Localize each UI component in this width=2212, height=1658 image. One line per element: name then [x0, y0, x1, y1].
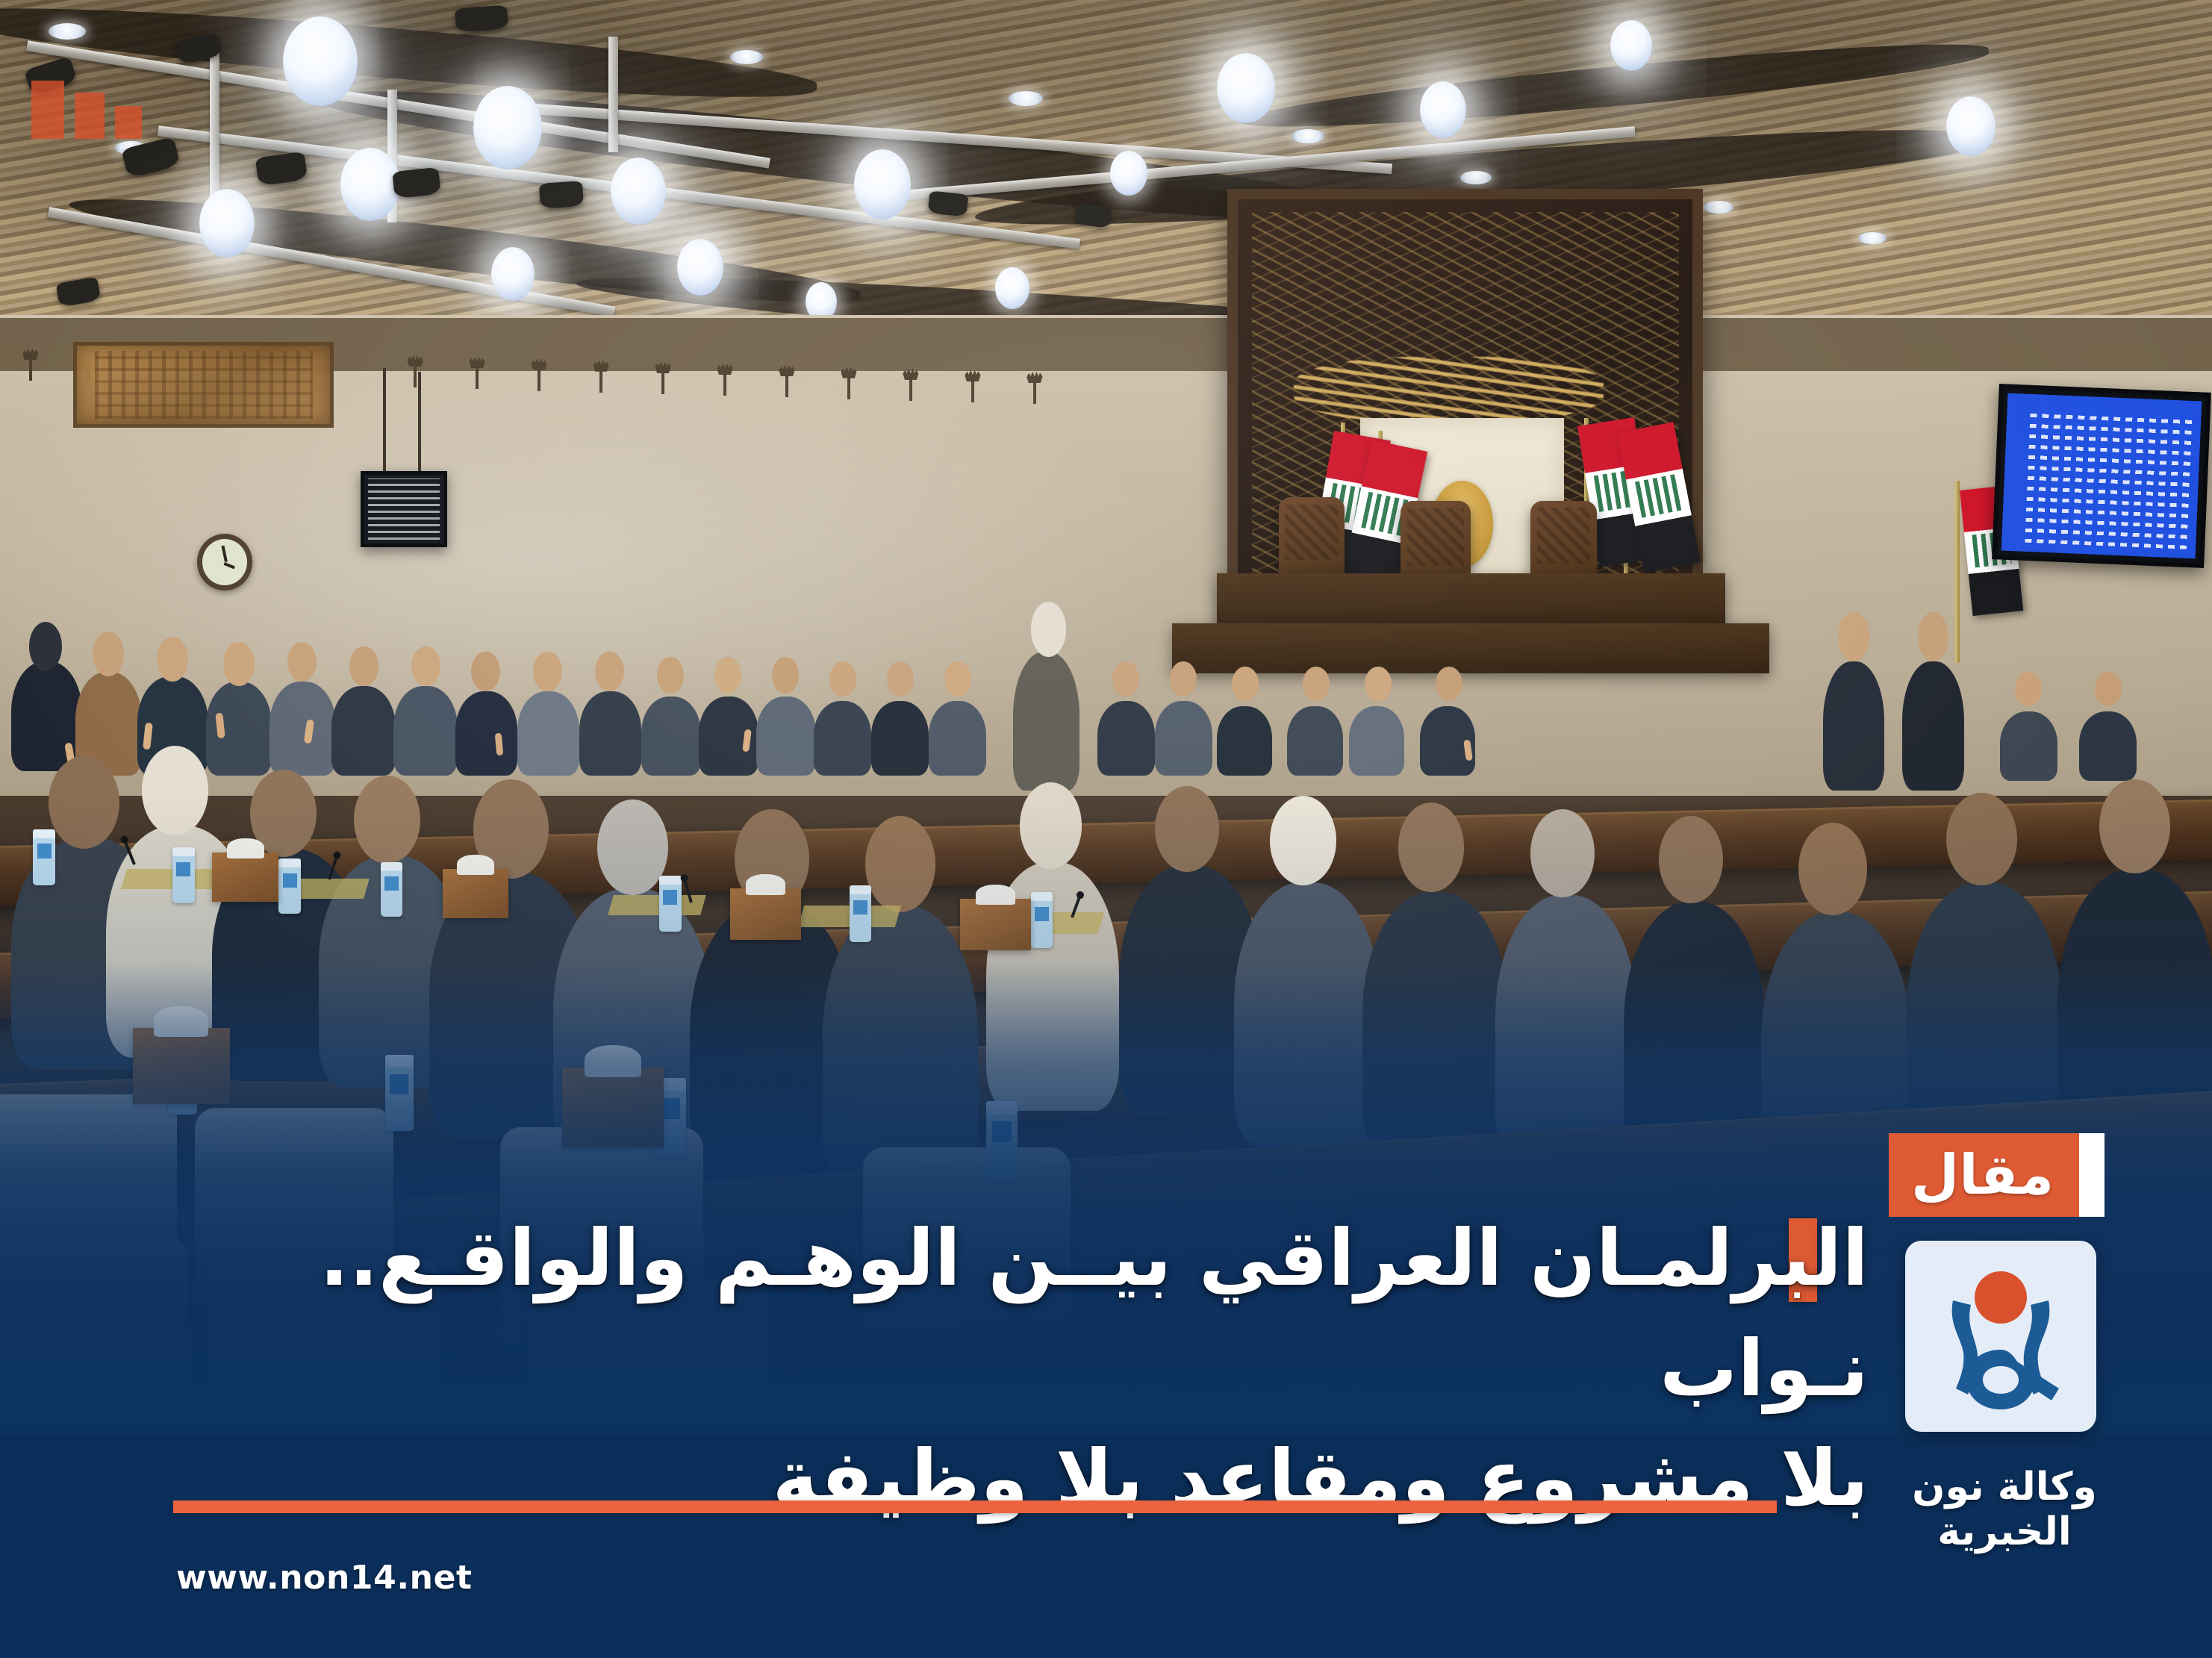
agency-name: وكالة نون الخبرية	[1844, 1465, 2165, 1554]
news-card: البرلمـان العراقي بيــن الوهـم والواقـع.…	[0, 0, 2212, 1658]
watermark-bar	[31, 81, 64, 139]
headline-line-1: البرلمـان العراقي بيــن الوهـم والواقـع.…	[320, 1212, 1869, 1414]
watermark-bar	[75, 93, 105, 139]
noon-agency-logo-icon	[1905, 1241, 2096, 1432]
headline-line-2: بلا مشروع ومقاعد بلا وظيفة	[219, 1424, 1869, 1534]
watermark-bar	[115, 106, 142, 139]
badge-white-bar	[2079, 1133, 2104, 1217]
website-url[interactable]: www.non14.net	[176, 1559, 473, 1597]
watermark-bars	[31, 81, 142, 139]
orange-divider	[173, 1500, 1777, 1513]
article-badge[interactable]: مقال	[1889, 1133, 2104, 1217]
headline: البرلمـان العراقي بيــن الوهـم والواقـع.…	[219, 1203, 1869, 1534]
agency-logo[interactable]	[1905, 1241, 2096, 1432]
article-badge-label: مقال	[1889, 1133, 2079, 1217]
